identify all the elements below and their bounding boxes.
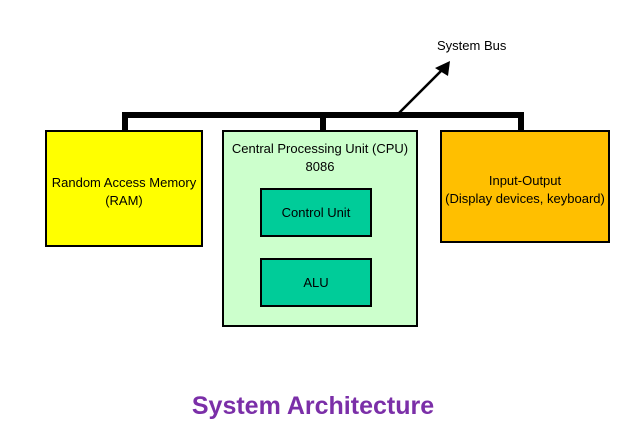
control-unit-block: Control Unit (260, 188, 372, 237)
ram-block: Random Access Memory (RAM) (45, 130, 203, 247)
cpu-model-label: 8086 (224, 158, 416, 176)
cpu-block: Central Processing Unit (CPU) 8086 Contr… (222, 130, 418, 327)
system-architecture-diagram: System Bus Random Access Memory (RAM) Ce… (0, 0, 626, 446)
alu-block: ALU (260, 258, 372, 307)
input-output-block: Input-Output (Display devices, keyboard) (440, 130, 610, 243)
diagram-title: System Architecture (0, 392, 626, 421)
system-bus-arrow-icon (392, 56, 462, 118)
system-bus-label: System Bus (437, 38, 506, 53)
input-output-block-label: Input-Output (Display devices, keyboard) (442, 172, 608, 208)
ram-block-label: Random Access Memory (RAM) (47, 174, 201, 210)
cpu-block-heading: Central Processing Unit (CPU) (224, 140, 416, 158)
